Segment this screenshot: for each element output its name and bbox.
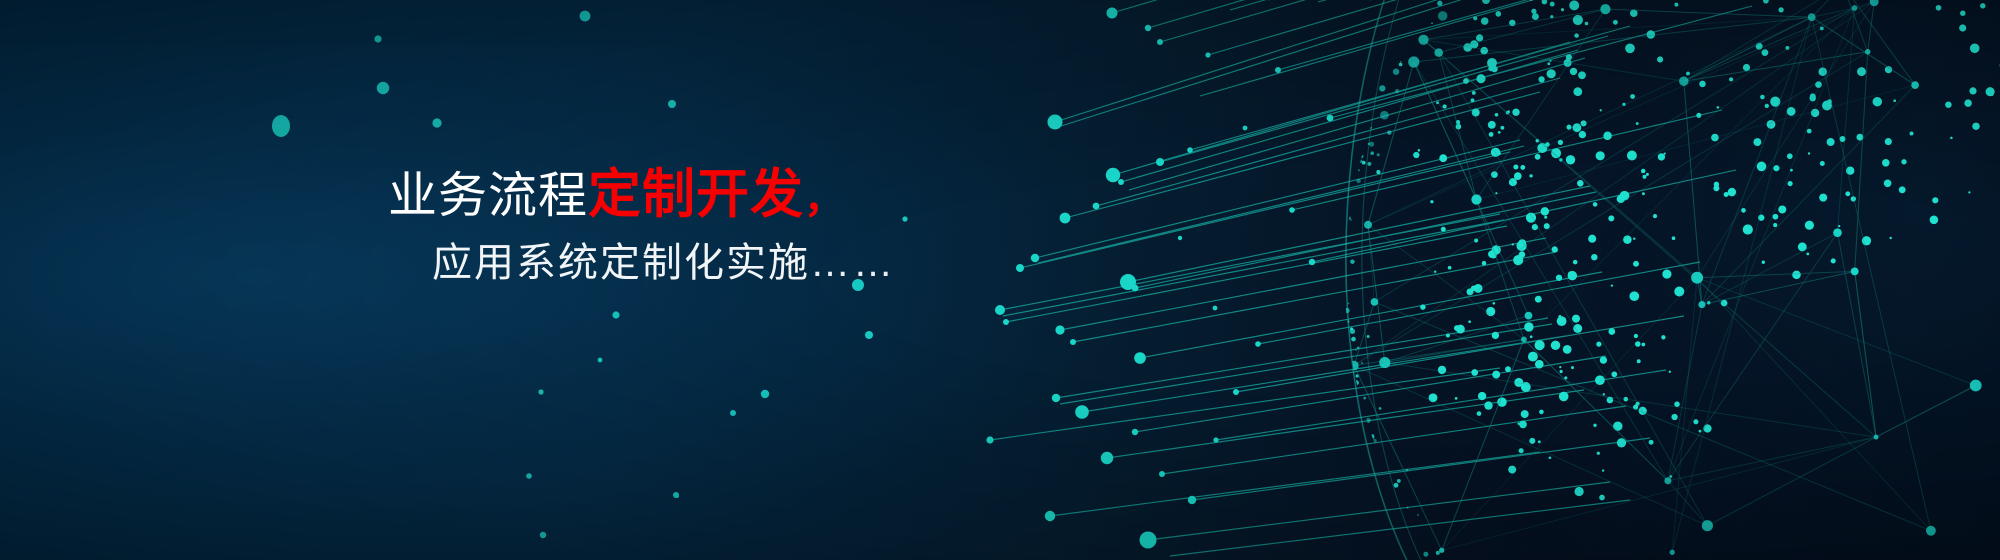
headline-plain: 业务流程: [388, 169, 588, 223]
headline: 业务流程定制开发，: [388, 168, 844, 221]
hero-banner: 业务流程定制开发， 应用系统定制化实施……: [0, 0, 2000, 560]
subheadline-ellipsis: ……: [810, 241, 896, 285]
headline-punctuation: ，: [804, 177, 844, 221]
subheadline-text: 应用系统定制化实施: [432, 241, 810, 285]
headline-accent: 定制开发: [588, 165, 804, 224]
subheadline: 应用系统定制化实施……: [432, 243, 896, 283]
banner-copy: 业务流程定制开发， 应用系统定制化实施……: [0, 0, 1010, 560]
